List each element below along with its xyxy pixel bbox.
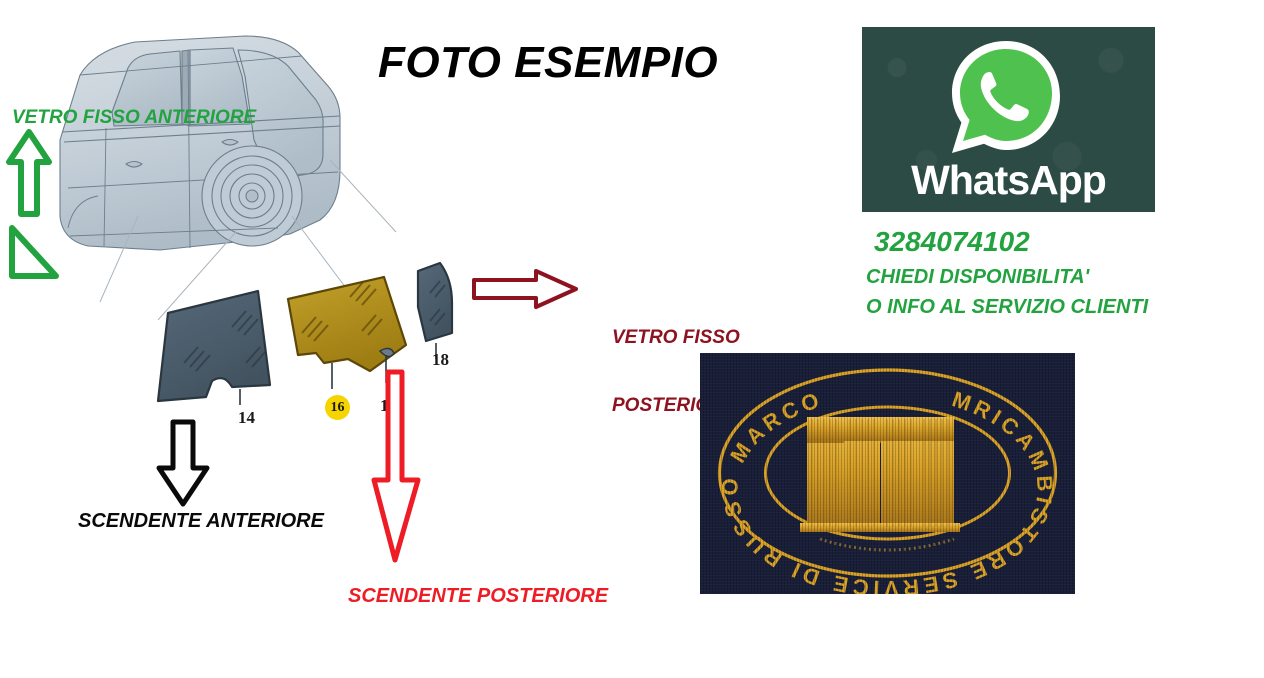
whatsapp-icon xyxy=(942,35,1070,164)
exploded-glass-parts xyxy=(140,255,480,445)
contact-line-1: CHIEDI DISPONIBILITA' xyxy=(866,266,1089,289)
part-number-14: 14 xyxy=(238,408,255,428)
brand-logo-plate: MRICAMBISTORE SERVICE DI RUSSO MARCO xyxy=(700,353,1075,594)
contact-line-2: O INFO AL SERVIZIO CLIENTI xyxy=(866,296,1148,319)
poster-canvas: 14 16 17 18 VETRO FISSO ANTERIORE VETRO … xyxy=(0,0,1264,678)
page-title: FOTO ESEMPIO xyxy=(378,38,718,88)
arrow-up-green-icon xyxy=(6,128,52,223)
arrow-down-red-icon xyxy=(368,368,424,573)
label-vetro-fisso-posteriore-line1: VETRO FISSO xyxy=(612,327,740,350)
part-number-16: 16 xyxy=(325,395,350,420)
label-vetro-fisso-anteriore: VETRO FISSO ANTERIORE xyxy=(12,108,256,128)
label-scendente-anteriore: SCENDENTE ANTERIORE xyxy=(78,511,324,532)
part-number-18: 18 xyxy=(432,350,449,370)
phone-number[interactable]: 3284074102 xyxy=(874,226,1030,258)
arrow-down-black-icon xyxy=(155,418,211,513)
label-scendente-posteriore: SCENDENTE POSTERIORE xyxy=(348,586,608,607)
whatsapp-wordmark: WhatsApp xyxy=(862,157,1155,204)
whatsapp-banner: WhatsApp xyxy=(862,27,1155,212)
triangle-green-icon xyxy=(6,222,62,287)
fabric-texture xyxy=(700,353,1075,594)
arrow-right-maroon-icon xyxy=(470,268,580,315)
